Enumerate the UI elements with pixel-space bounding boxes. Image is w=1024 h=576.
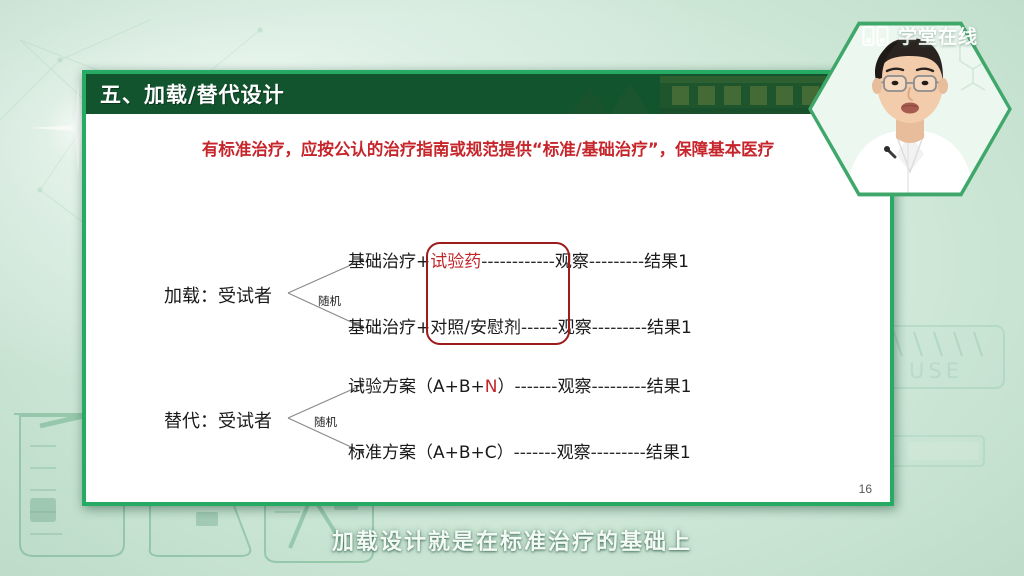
group-1-randomize-label: 随机 bbox=[318, 293, 341, 309]
intervention-emphasis-box bbox=[426, 242, 570, 345]
slide-body: 有标准治疗，应按公认的治疗指南或规范提供“标准/基础治疗”，保障基本医疗 加载：… bbox=[86, 116, 890, 504]
group-2-subject-label: 替代：受试者 bbox=[164, 407, 272, 433]
xuetang-logo-icon bbox=[862, 25, 892, 47]
arm-outcome: 结果1 bbox=[646, 443, 691, 463]
arm-outcome: 结果1 bbox=[644, 252, 689, 272]
arm-prefix: 基础治疗+ bbox=[348, 252, 430, 272]
study-design-diagram: 加载：受试者 随机 基础治疗+试验药------------观察--------… bbox=[86, 116, 890, 504]
arm-dash-1: ------- bbox=[514, 443, 557, 463]
arm-dash-2: --------- bbox=[592, 318, 647, 338]
arm-outcome: 结果1 bbox=[647, 377, 692, 397]
slide-title: 五、加载/替代设计 bbox=[100, 79, 285, 109]
group-2-arm-2: 标准方案（A+B+C）-------观察---------结果1 bbox=[348, 438, 691, 463]
arm-dash-2: --------- bbox=[589, 252, 644, 272]
arm-observe: 观察 bbox=[557, 443, 591, 463]
arm-dash-2: --------- bbox=[591, 443, 646, 463]
arm-suffix: ） bbox=[498, 377, 515, 397]
video-player-stage: FOR SINGLE USE bbox=[0, 0, 1024, 576]
arm-prefix: 试验方案（A+B+ bbox=[348, 377, 485, 397]
arm-prefix: 标准方案（A+B+C） bbox=[348, 443, 514, 463]
arm-observe: 观察 bbox=[557, 377, 591, 397]
platform-logo: 学堂在线 bbox=[862, 22, 978, 49]
arm-outcome: 结果1 bbox=[647, 318, 692, 338]
slide-card: 五、加载/替代设计 有标准治疗，应按公认的治疗指南或规范提供“标准/基础治疗”，… bbox=[82, 70, 894, 506]
video-caption: 加载设计就是在标准治疗的基础上 bbox=[0, 524, 1024, 556]
group-2-randomize-label: 随机 bbox=[314, 414, 337, 430]
group-2-arm-1: 试验方案（A+B+N）-------观察---------结果1 bbox=[348, 372, 692, 397]
slide-header: 五、加载/替代设计 bbox=[86, 74, 890, 116]
arm-prefix: 基础治疗+ bbox=[348, 318, 430, 338]
arm-highlight: N bbox=[485, 377, 498, 397]
group-1-subject-label: 加载：受试者 bbox=[164, 282, 272, 308]
arm-dash-2: --------- bbox=[591, 377, 646, 397]
platform-logo-text: 学堂在线 bbox=[898, 22, 978, 49]
arm-dash-1: ------- bbox=[515, 377, 558, 397]
slide-page-number: 16 bbox=[859, 482, 872, 496]
